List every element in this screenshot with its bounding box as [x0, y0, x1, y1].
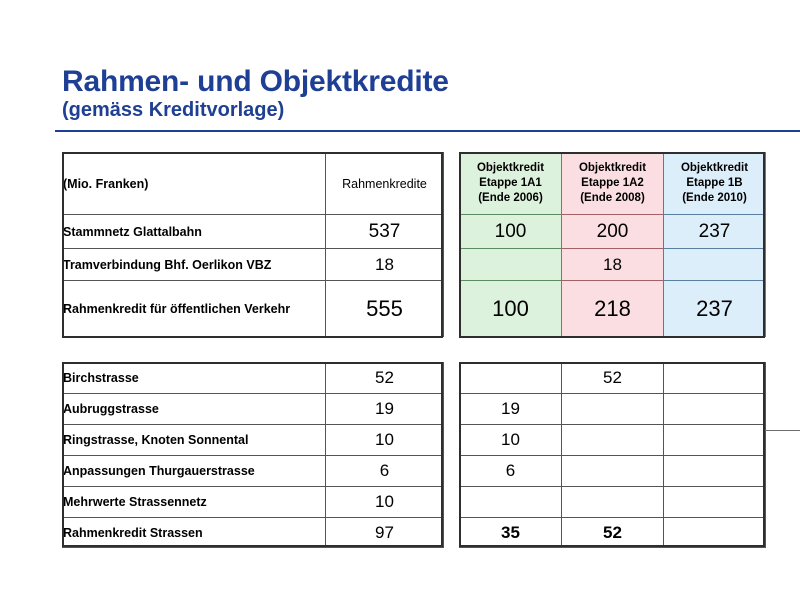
table-row: 52	[460, 363, 766, 394]
unit-header-cell: (Mio. Franken)	[63, 153, 326, 215]
row-value-stage-1a2	[562, 425, 664, 456]
stage-1b-header-line2: Etappe 1B	[664, 176, 765, 191]
table-row: Tramverbindung Bhf. Oerlikon VBZ 18	[63, 249, 444, 281]
row-label: Birchstrasse	[63, 363, 326, 394]
row-label: Mehrwerte Strassennetz	[63, 487, 326, 518]
row-value-stage-1a1	[460, 487, 562, 518]
table-header-row: Objektkredit Etappe 1A1 (Ende 2006) Obje…	[460, 153, 766, 215]
row-value-stage-1b	[664, 249, 766, 281]
row-value-stage-1b: 237	[664, 215, 766, 249]
row-label: Rahmenkredit Strassen	[63, 518, 326, 548]
row-value-stage-1a1: 100	[460, 215, 562, 249]
row-value-stage-1b	[664, 425, 766, 456]
title-underline-rule	[55, 130, 800, 132]
row-value-stage-1a2: 218	[562, 281, 664, 337]
table-row: Mehrwerte Strassennetz 10	[63, 487, 444, 518]
table-row	[460, 487, 766, 518]
row-label: Tramverbindung Bhf. Oerlikon VBZ	[63, 249, 326, 281]
table-row: Stammnetz Glattalbahn 537	[63, 215, 444, 249]
row-value-stage-1a1	[460, 249, 562, 281]
row-value-rahmenkredit: 10	[326, 487, 444, 518]
row-value-stage-1b	[664, 394, 766, 425]
oev-objektkredit-table: Objektkredit Etappe 1A1 (Ende 2006) Obje…	[459, 152, 766, 337]
table-row: Birchstrasse 52	[63, 363, 444, 394]
table-header-row: (Mio. Franken) Rahmenkredite	[63, 153, 444, 215]
row-value-rahmenkredit: 537	[326, 215, 444, 249]
row-value-stage-1a1: 100	[460, 281, 562, 337]
table-total-row: Rahmenkredit Strassen 97	[63, 518, 444, 548]
row-value-stage-1a2: 18	[562, 249, 664, 281]
page-title: Rahmen- und Objektkredite	[62, 66, 800, 98]
title-block: Rahmen- und Objektkredite (gemäss Kredit…	[62, 66, 800, 121]
stage-1a1-header-line2: Etappe 1A1	[460, 176, 561, 191]
row-value-stage-1b	[664, 487, 766, 518]
row-label: Ringstrasse, Knoten Sonnental	[63, 425, 326, 456]
table-total-row: Rahmenkredit für öffentlichen Verkehr 55…	[63, 281, 444, 337]
row-value-stage-1b	[664, 518, 766, 548]
table-row: 100 200 237	[460, 215, 766, 249]
row-value-rahmenkredit: 555	[326, 281, 444, 337]
table-row: 18	[460, 249, 766, 281]
row-value-stage-1a1: 19	[460, 394, 562, 425]
row-value-stage-1b: 237	[664, 281, 766, 337]
row-value-rahmenkredit: 6	[326, 456, 444, 487]
table-row: Anpassungen Thurgauerstrasse 6	[63, 456, 444, 487]
row-value-stage-1a2	[562, 456, 664, 487]
row-value-stage-1b	[664, 363, 766, 394]
row-value-rahmenkredit: 10	[326, 425, 444, 456]
stage-1a1-header-cell: Objektkredit Etappe 1A1 (Ende 2006)	[460, 153, 562, 215]
table-total-row: 100 218 237	[460, 281, 766, 337]
row-value-stage-1a2	[562, 487, 664, 518]
table-row: Ringstrasse, Knoten Sonnental 10	[63, 425, 444, 456]
table-total-row: 35 52	[460, 518, 766, 548]
stage-1a2-header-line3: (Ende 2008)	[562, 191, 663, 206]
row-label: Rahmenkredit für öffentlichen Verkehr	[63, 281, 326, 337]
table-row: 6	[460, 456, 766, 487]
row-value-rahmenkredit: 97	[326, 518, 444, 548]
row-value-stage-1a1: 10	[460, 425, 562, 456]
row-value-rahmenkredit: 19	[326, 394, 444, 425]
row-label: Anpassungen Thurgauerstrasse	[63, 456, 326, 487]
row-value-stage-1a1	[460, 363, 562, 394]
stage-1a2-header-line1: Objektkredit	[562, 161, 663, 176]
row-value-rahmenkredit: 52	[326, 363, 444, 394]
row-value-stage-1a2: 52	[562, 518, 664, 548]
stray-horizontal-rule	[765, 430, 800, 431]
table-row: Aubruggstrasse 19	[63, 394, 444, 425]
row-value-stage-1a1: 35	[460, 518, 562, 548]
stage-1b-header-cell: Objektkredit Etappe 1B (Ende 2010)	[664, 153, 766, 215]
stage-1a2-header-cell: Objektkredit Etappe 1A2 (Ende 2008)	[562, 153, 664, 215]
row-value-stage-1a2	[562, 394, 664, 425]
row-value-stage-1a1: 6	[460, 456, 562, 487]
stage-1a1-header-line3: (Ende 2006)	[460, 191, 561, 206]
rahmenkredite-header-cell: Rahmenkredite	[326, 153, 444, 215]
stage-1b-header-line1: Objektkredit	[664, 161, 765, 176]
strassen-objektkredit-table: 52 19 10 6 35 52	[459, 362, 766, 548]
row-value-rahmenkredit: 18	[326, 249, 444, 281]
oev-rahmenkredit-table: (Mio. Franken) Rahmenkredite Stammnetz G…	[62, 152, 444, 337]
strassen-rahmenkredit-table: Birchstrasse 52 Aubruggstrasse 19 Ringst…	[62, 362, 444, 548]
row-value-stage-1a2: 52	[562, 363, 664, 394]
stage-1a2-header-line2: Etappe 1A2	[562, 176, 663, 191]
stage-1b-header-line3: (Ende 2010)	[664, 191, 765, 206]
page-subtitle: (gemäss Kreditvorlage)	[62, 99, 800, 121]
row-value-stage-1b	[664, 456, 766, 487]
table-row: 10	[460, 425, 766, 456]
table-row: 19	[460, 394, 766, 425]
row-label: Aubruggstrasse	[63, 394, 326, 425]
stage-1a1-header-line1: Objektkredit	[460, 161, 561, 176]
row-value-stage-1a2: 200	[562, 215, 664, 249]
row-label: Stammnetz Glattalbahn	[63, 215, 326, 249]
